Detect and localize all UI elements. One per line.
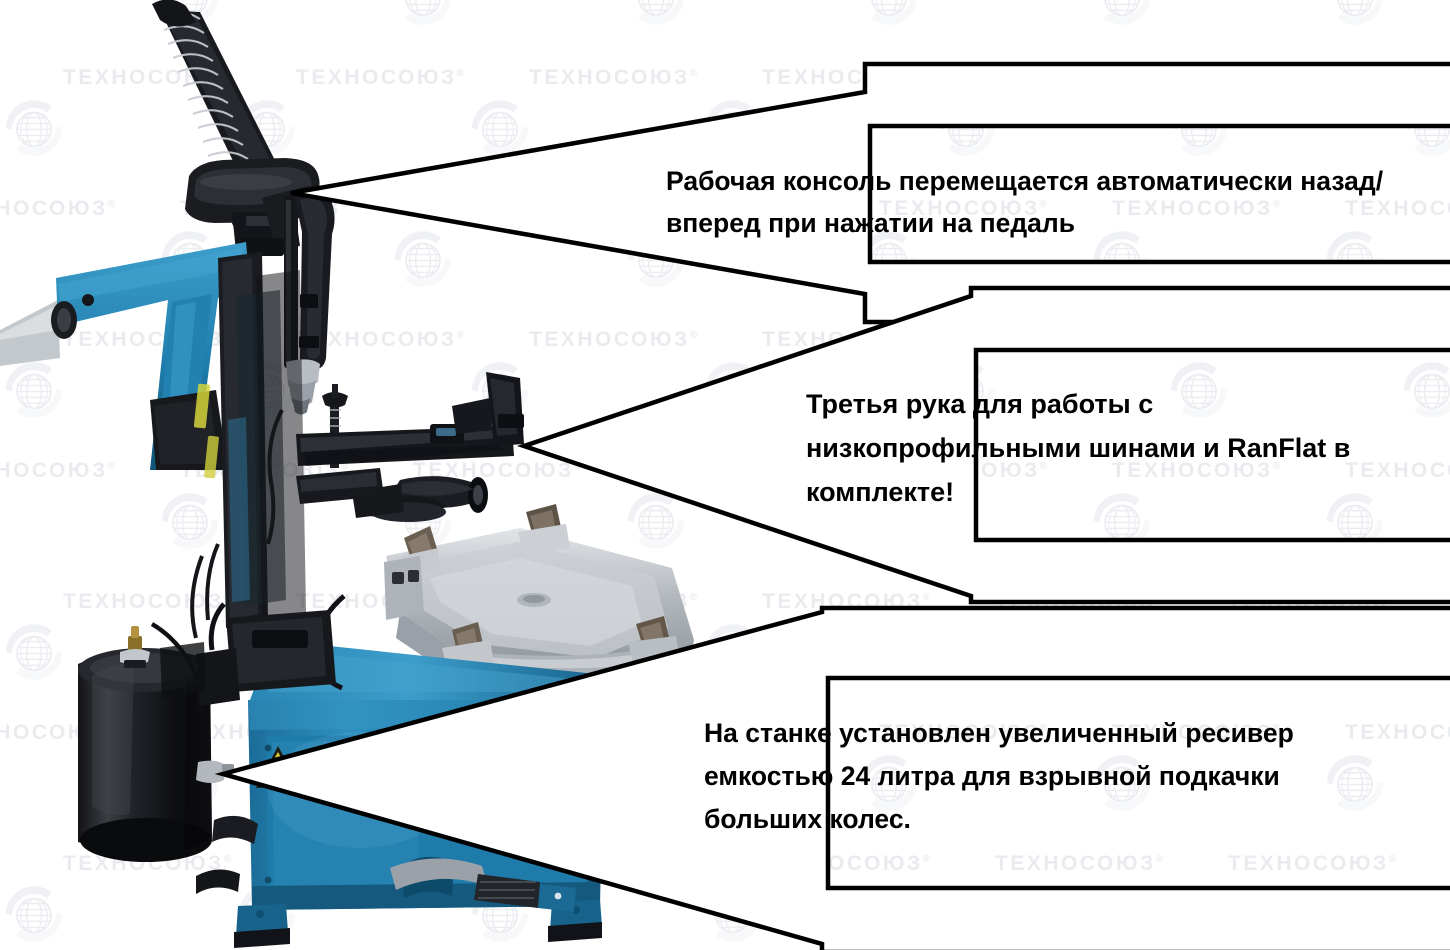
product-callout-image: ТЕХНОСОЮЗ®ТЕХНОСОЮЗ®ТЕХНОСОЮЗ®ТЕХНОСОЮЗ®… [0,0,1450,950]
callout-air-receiver-text: На станке установлен увеличенный ресивер… [704,712,1354,841]
callout-third-arm-text: Третья рука для работы с низкопрофильным… [806,382,1406,514]
callout-working-console-text: Рабочая консоль перемещается автоматичес… [666,160,1436,244]
